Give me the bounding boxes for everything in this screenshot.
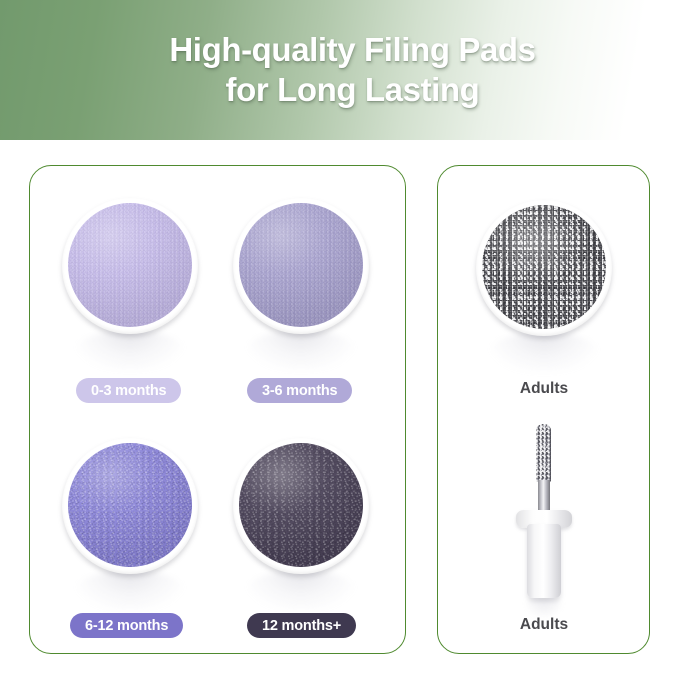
product-infographic: High-quality Filing Pads for Long Lastin… <box>0 0 679 679</box>
pad-sheen <box>68 443 192 567</box>
pad-reflection <box>490 332 598 372</box>
page-title-line-2: for Long Lasting <box>169 70 535 110</box>
pad-surface <box>239 443 363 567</box>
page-title-line-1: High-quality Filing Pads <box>169 31 535 68</box>
pad-item-6-12-months <box>62 438 198 574</box>
pad-reflection <box>247 330 355 370</box>
header-banner: High-quality Filing Pads for Long Lastin… <box>0 0 679 140</box>
filing-pad-disc <box>233 438 369 574</box>
filing-pad-disc <box>62 438 198 574</box>
pad-item-0-3-months <box>62 198 198 334</box>
page-title: High-quality Filing Pads for Long Lastin… <box>143 30 535 111</box>
pad-item-adults-metal <box>476 200 612 336</box>
pad-surface-metal <box>482 205 606 329</box>
pad-sheen <box>239 203 363 327</box>
filing-pad-disc <box>476 200 612 336</box>
drill-bit-shank <box>538 480 550 514</box>
pad-label-6-12-months: 6-12 months <box>70 613 183 638</box>
pad-label-0-3-months: 0-3 months <box>76 378 181 403</box>
drill-bit-reflection <box>524 596 564 618</box>
pad-label-12-months-plus: 12 months+ <box>247 613 356 638</box>
pad-item-12-months-plus <box>233 438 369 574</box>
pad-sheen <box>239 443 363 567</box>
pad-sheen <box>68 203 192 327</box>
pad-label-adults-drill-bit: Adults <box>476 616 612 634</box>
pad-reflection <box>76 570 184 610</box>
pad-reflection <box>247 570 355 610</box>
pad-reflection <box>76 330 184 370</box>
pad-surface <box>68 443 192 567</box>
filing-pad-disc <box>62 198 198 334</box>
pad-label-adults-metal: Adults <box>476 380 612 398</box>
pad-surface <box>68 203 192 327</box>
pad-label-3-6-months: 3-6 months <box>247 378 352 403</box>
filing-pad-disc <box>233 198 369 334</box>
drill-bit-body <box>527 524 561 598</box>
drill-bit-adults <box>508 424 580 604</box>
pad-sheen <box>482 205 606 329</box>
drill-bit-diamond-tip <box>536 424 551 482</box>
pad-item-3-6-months <box>233 198 369 334</box>
pad-surface <box>239 203 363 327</box>
